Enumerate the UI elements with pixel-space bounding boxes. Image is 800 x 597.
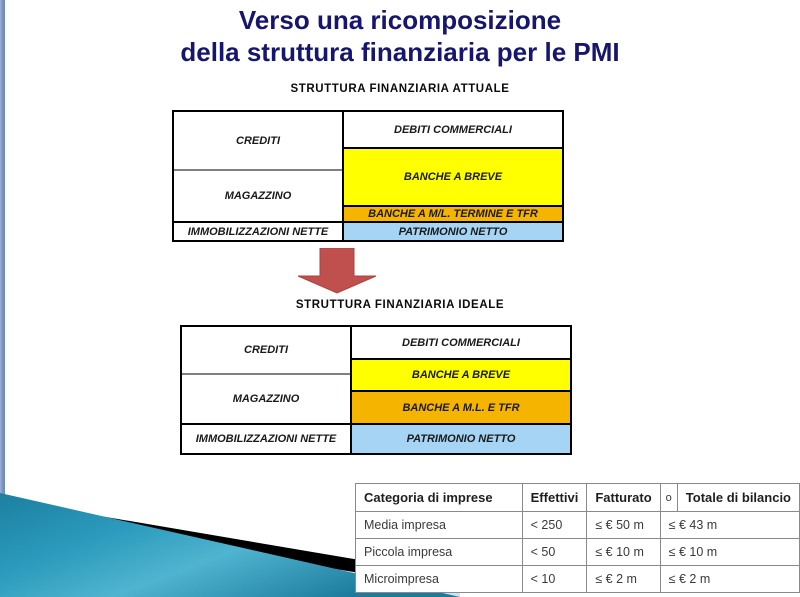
ideale-liabilities-column: DEBITI COMMERCIALI BANCHE A BREVE BANCHE… [352, 327, 570, 453]
ideale-asset-immobilizzazioni: IMMOBILIZZAZIONI NETTE [182, 425, 350, 453]
pmi-table-header-row: Categoria di imprese Effettivi Fatturato… [356, 484, 800, 512]
pmi-header-fatturato: Fatturato [587, 484, 660, 512]
ideale-assets-column: CREDITI MAGAZZINO IMMOBILIZZAZIONI NETTE [182, 327, 352, 453]
attuale-asset-crediti: CREDITI [174, 112, 342, 171]
pmi-header-categoria: Categoria di imprese [356, 484, 523, 512]
ideale-liab-banche-ml-tfr: BANCHE A M.L. E TFR [352, 392, 570, 425]
attuale-liabilities-column: DEBITI COMMERCIALI BANCHE A BREVE BANCHE… [344, 112, 562, 240]
pmi-cell-effettivi: < 10 [522, 566, 587, 593]
ideale-liab-banche-a-breve: BANCHE A BREVE [352, 360, 570, 392]
pmi-header-effettivi: Effettivi [522, 484, 587, 512]
pmi-cell-totale: ≤ € 43 m [660, 512, 799, 539]
attuale-liab-debiti-commerciali: DEBITI COMMERCIALI [344, 112, 562, 149]
down-arrow-icon [296, 248, 378, 294]
pmi-cell-fatturato: ≤ € 50 m [587, 512, 660, 539]
pmi-definition-table: Categoria di imprese Effettivi Fatturato… [355, 483, 800, 593]
pmi-cell-totale: ≤ € 10 m [660, 539, 799, 566]
attuale-liab-patrimonio-netto: PATRIMONIO NETTO [344, 223, 562, 240]
page-title: Verso una ricomposizione della struttura… [0, 4, 800, 68]
ideale-liab-debiti-commerciali: DEBITI COMMERCIALI [352, 327, 570, 360]
ideale-asset-magazzino: MAGAZZINO [182, 375, 350, 425]
caption-struttura-attuale: STRUTTURA FINANZIARIA ATTUALE [0, 83, 800, 95]
balance-sheet-attuale: CREDITI MAGAZZINO IMMOBILIZZAZIONI NETTE… [172, 110, 564, 242]
pmi-cell-totale: ≤ € 2 m [660, 566, 799, 593]
pmi-cell-categoria: Piccola impresa [356, 539, 523, 566]
attuale-liab-banche-ml-termine-tfr: BANCHE A M/L. TERMINE E TFR [344, 207, 562, 223]
attuale-asset-immobilizzazioni: IMMOBILIZZAZIONI NETTE [174, 223, 342, 240]
slide-canvas: Verso una ricomposizione della struttura… [0, 0, 800, 597]
table-row: Media impresa < 250 ≤ € 50 m ≤ € 43 m [356, 512, 800, 539]
pmi-cell-fatturato: ≤ € 2 m [587, 566, 660, 593]
pmi-cell-effettivi: < 250 [522, 512, 587, 539]
ideale-liab-patrimonio-netto: PATRIMONIO NETTO [352, 425, 570, 453]
pmi-cell-fatturato: ≤ € 10 m [587, 539, 660, 566]
attuale-liab-banche-a-breve: BANCHE A BREVE [344, 149, 562, 207]
balance-sheet-ideale: CREDITI MAGAZZINO IMMOBILIZZAZIONI NETTE… [180, 325, 572, 455]
pmi-header-oppure: o [660, 484, 677, 512]
pmi-cell-effettivi: < 50 [522, 539, 587, 566]
caption-struttura-ideale: STRUTTURA FINANZIARIA IDEALE [0, 299, 800, 311]
table-row: Piccola impresa < 50 ≤ € 10 m ≤ € 10 m [356, 539, 800, 566]
title-line-2: della struttura finanziaria per le PMI [0, 36, 800, 68]
ideale-asset-crediti: CREDITI [182, 327, 350, 375]
attuale-assets-column: CREDITI MAGAZZINO IMMOBILIZZAZIONI NETTE [174, 112, 344, 240]
title-line-1: Verso una ricomposizione [0, 4, 800, 36]
table-row: Microimpresa < 10 ≤ € 2 m ≤ € 2 m [356, 566, 800, 593]
attuale-asset-magazzino: MAGAZZINO [174, 171, 342, 223]
pmi-cell-categoria: Microimpresa [356, 566, 523, 593]
pmi-header-totale-bilancio: Totale di bilancio [677, 484, 799, 512]
pmi-cell-categoria: Media impresa [356, 512, 523, 539]
